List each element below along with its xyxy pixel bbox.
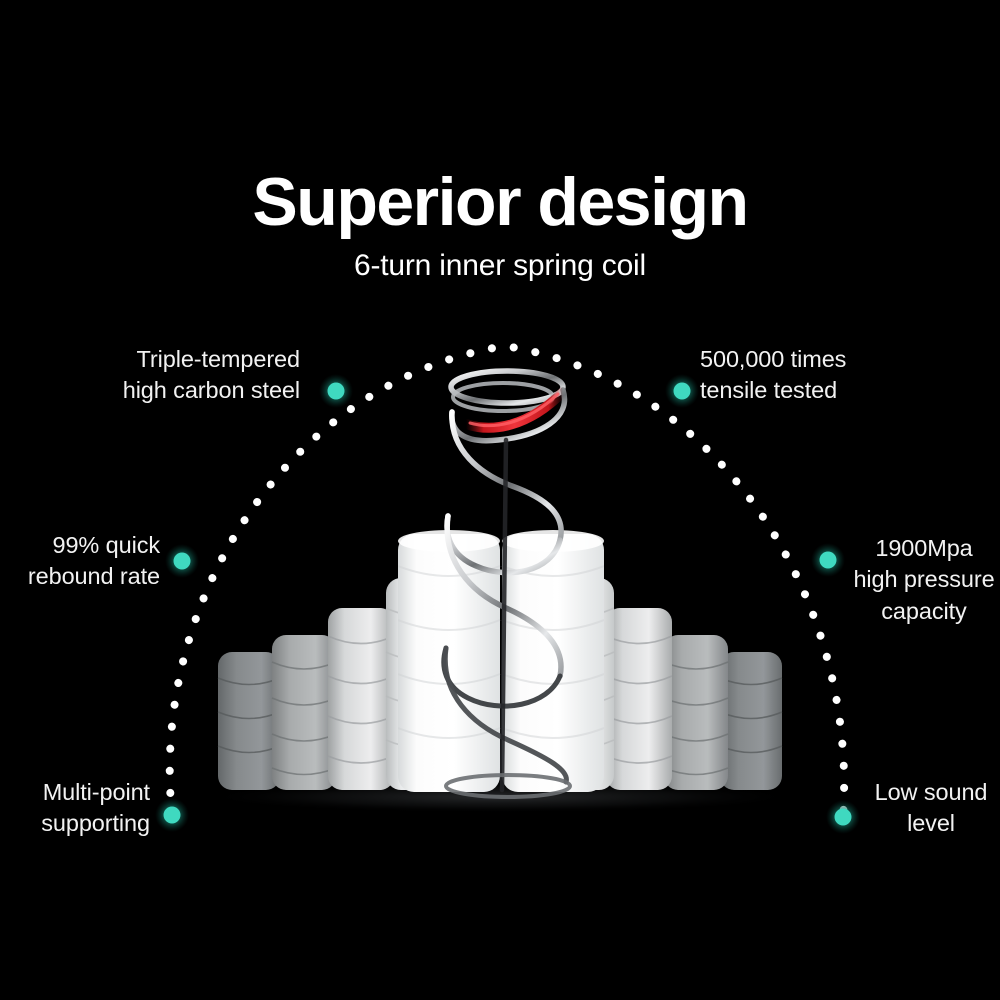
pocket-spring-cylinder [606, 608, 672, 790]
pocket-spring-cylinder [720, 652, 782, 790]
callout-label-500000-times-tensile-tested: 500,000 times tensile tested [700, 344, 960, 407]
callout-marker[interactable] [155, 798, 189, 832]
product-feature-graphic: Superior design 6-turn inner spring coil… [0, 0, 1000, 1000]
page-title: Superior design [0, 168, 1000, 237]
pocket-spring-cylinder [218, 652, 280, 790]
callout-marker[interactable] [665, 374, 699, 408]
pocket-spring-cylinder [328, 608, 394, 790]
page-subtitle: 6-turn inner spring coil [0, 249, 1000, 283]
callout-label-multi-point-supporting: Multi-point supporting [0, 777, 150, 840]
callout-label-99-percent-quick-rebound-rate: 99% quick rebound rate [0, 530, 160, 593]
callout-marker[interactable] [811, 543, 845, 577]
pocket-spring-cylinder [664, 635, 728, 790]
callout-marker[interactable] [826, 800, 860, 834]
spring-illustration [0, 0, 1000, 1000]
pocket-spring-cylinder [272, 635, 336, 790]
callout-marker[interactable] [319, 374, 353, 408]
pocket-spring-row [218, 530, 782, 792]
callout-marker[interactable] [165, 544, 199, 578]
callout-label-triple-tempered-high-carbon-steel: Triple-tempered high carbon steel [60, 344, 300, 407]
callout-label-1900mpa-high-pressure-capacity: 1900Mpa high pressure capacity [848, 533, 1000, 627]
callout-label-low-sound-level: Low sound level [862, 777, 1000, 840]
